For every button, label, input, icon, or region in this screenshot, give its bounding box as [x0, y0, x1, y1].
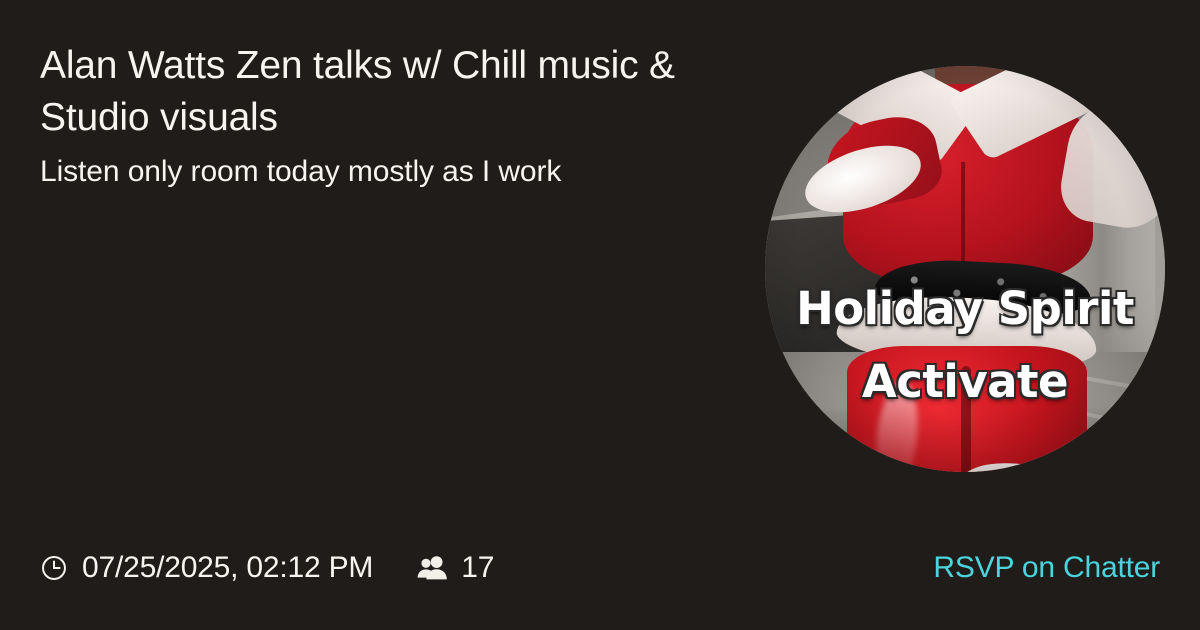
rsvp-link[interactable]: RSVP on Chatter — [933, 552, 1160, 584]
attendee-count: 17 — [417, 552, 494, 584]
page-title: Alan Watts Zen talks w/ Chill music & St… — [40, 40, 700, 144]
event-subtitle: Listen only room today mostly as I work — [40, 152, 740, 192]
avatar: Holiday Spirit Activate — [765, 66, 1165, 472]
clock-icon — [40, 554, 68, 582]
event-datetime: 07/25/2025, 02:12 PM — [40, 552, 373, 584]
cover-photo-caption: Holiday Spirit Activate — [765, 272, 1165, 418]
people-icon — [417, 556, 448, 580]
event-datetime-text: 07/25/2025, 02:12 PM — [82, 552, 373, 584]
event-meta-group: 07/25/2025, 02:12 PM 17 — [40, 552, 494, 584]
event-preview-card: Alan Watts Zen talks w/ Chill music & St… — [0, 0, 1200, 630]
attendee-count-text: 17 — [461, 552, 494, 584]
event-text-column: Alan Watts Zen talks w/ Chill music & St… — [40, 40, 740, 192]
card-footer: 07/25/2025, 02:12 PM 17 RSVP on Chatter — [40, 548, 1160, 588]
